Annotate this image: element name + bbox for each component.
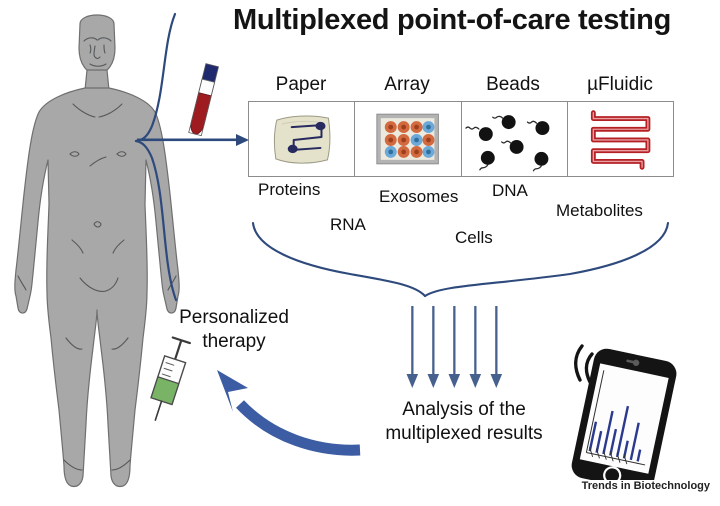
result-arrow-3 <box>449 306 461 388</box>
platform-label-beads: Beads <box>460 74 566 96</box>
paper-device-icon <box>249 102 354 176</box>
result-arrow-1 <box>407 306 419 388</box>
human-body-silhouette-icon <box>2 8 192 500</box>
analyte-label-rna: RNA <box>330 215 366 235</box>
smartphone-wireless-icon <box>556 332 688 480</box>
result-arrow-4 <box>470 306 482 388</box>
platform-panel-beads <box>462 102 568 176</box>
therapy-feedback-arrow <box>217 370 360 450</box>
result-arrows <box>407 306 503 388</box>
beads-icon <box>462 102 567 176</box>
result-arrow-5 <box>491 306 503 388</box>
platform-panel-microfluidic <box>568 102 673 176</box>
platform-panel-array <box>355 102 461 176</box>
platform-panel-paper <box>249 102 355 176</box>
analyte-label-exosomes: Exosomes <box>379 187 458 207</box>
journal-footer: Trends in Biotechnology <box>500 480 710 492</box>
analysis-label: Analysis of the multiplexed results <box>358 398 570 446</box>
analyte-label-dna: DNA <box>492 181 528 201</box>
analyte-label-proteins: Proteins <box>258 180 320 200</box>
result-arrow-2 <box>428 306 440 388</box>
platform-label-microfluidic: µFluidic <box>566 74 674 96</box>
therapy-line-1: Personalized <box>168 306 300 330</box>
microarray-icon <box>355 102 460 176</box>
figure-title: Multiplexed point-of-care testing <box>196 4 708 37</box>
personalized-therapy-label: Personalized therapy <box>168 306 300 354</box>
platform-label-paper: Paper <box>248 74 354 96</box>
blood-collection-tube-icon <box>185 58 221 142</box>
platform-label-array: Array <box>354 74 460 96</box>
analysis-line-1: Analysis of the <box>358 398 570 422</box>
analyte-label-metabolites: Metabolites <box>556 201 643 221</box>
figure-canvas: Multiplexed point-of-care testing <box>0 0 720 506</box>
platform-panel-box <box>248 101 674 177</box>
therapy-line-2: therapy <box>168 330 300 354</box>
analysis-line-2: multiplexed results <box>358 422 570 446</box>
microfluidic-chip-icon <box>568 102 673 176</box>
analyte-label-cells: Cells <box>455 228 493 248</box>
